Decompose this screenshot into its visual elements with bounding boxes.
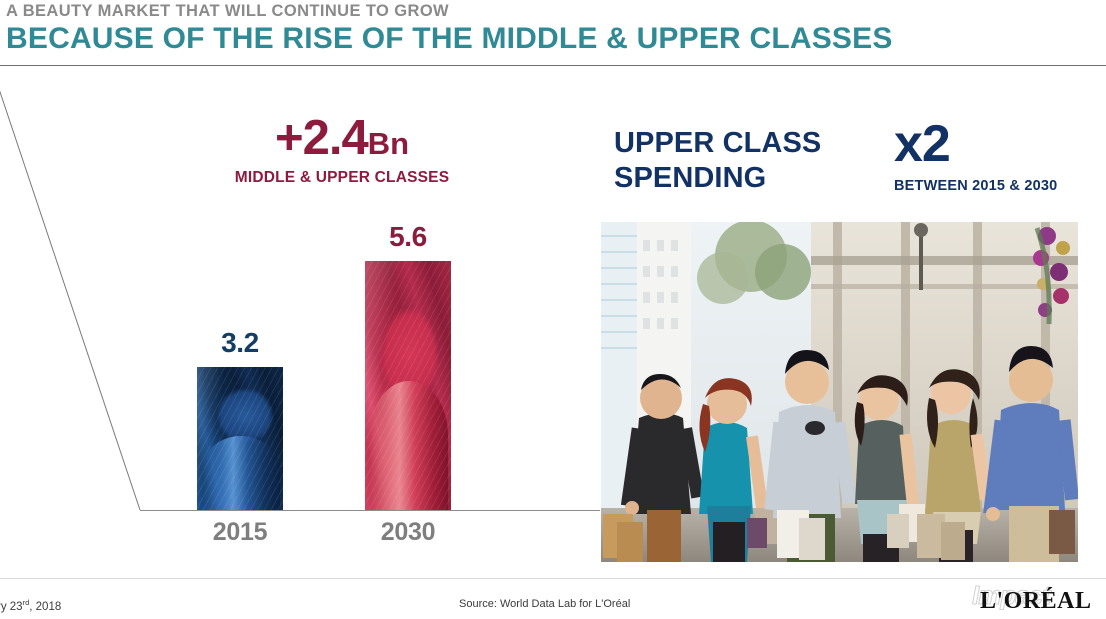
bar-category-label-2030: 2030 bbox=[335, 518, 481, 547]
bar-chart: 3.2 2015 5.6 2030 bbox=[0, 0, 620, 560]
right-stat-range: BETWEEN 2015 & 2030 bbox=[894, 178, 1057, 194]
right-stat-title: UPPER CLASS SPENDING bbox=[614, 126, 821, 197]
right-stat-title-line1: UPPER CLASS bbox=[614, 126, 821, 161]
bar-2015-texture bbox=[197, 367, 283, 510]
footer-date-year: , 2018 bbox=[29, 601, 61, 613]
logo-wordmark: L'ORÉAL bbox=[980, 588, 1092, 615]
footer-date: bruary 23rd, 2018 bbox=[0, 598, 61, 613]
bar-category-label-2015: 2015 bbox=[167, 518, 313, 547]
chart-axis-baseline bbox=[140, 510, 600, 511]
footer-date-text: bruary 23 bbox=[0, 601, 23, 613]
bar-value-label-2015: 3.2 bbox=[177, 327, 303, 359]
slide-canvas: A BEAUTY MARKET THAT WILL CONTINUE TO GR… bbox=[0, 0, 1106, 619]
loreal-logo: Impact L'ORÉAL bbox=[968, 586, 1088, 616]
bar-2030 bbox=[365, 261, 451, 510]
bar-2015 bbox=[197, 367, 283, 510]
bar-2030-texture bbox=[365, 261, 451, 510]
footer-source: Source: World Data Lab for L'Oréal bbox=[459, 598, 630, 610]
right-stat-multiplier: x2 bbox=[894, 118, 950, 170]
shoppers-photo-illustration bbox=[601, 222, 1078, 562]
bar-value-label-2030: 5.6 bbox=[345, 221, 471, 253]
shoppers-photo bbox=[601, 222, 1078, 562]
right-stat-title-line2: SPENDING bbox=[614, 161, 821, 196]
footer-divider bbox=[0, 578, 1106, 579]
